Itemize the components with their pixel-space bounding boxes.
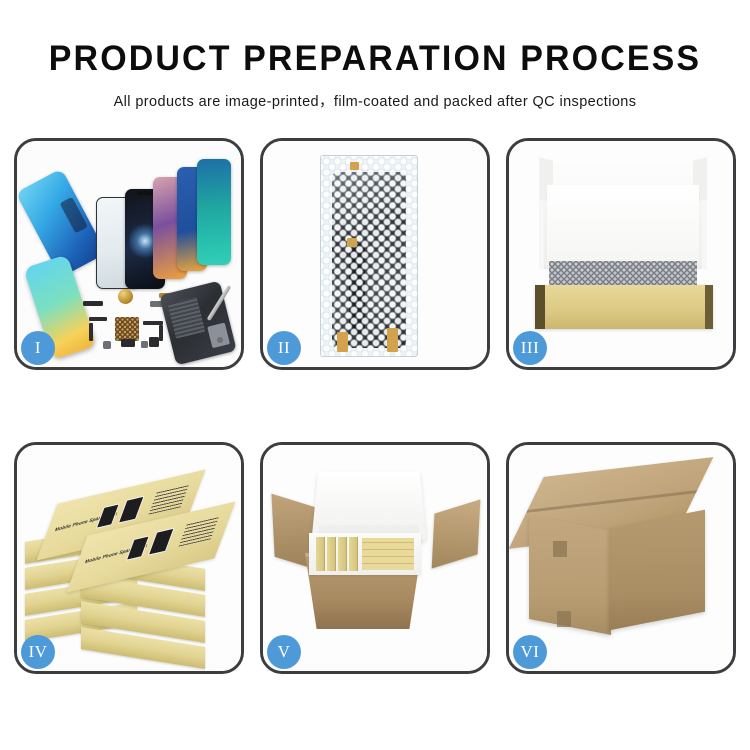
retail-box-3 <box>338 537 347 571</box>
flex-cable-4-icon <box>159 325 163 341</box>
tape-bottom-left-icon <box>337 332 348 352</box>
coil-part-icon <box>118 289 133 304</box>
product-preparation-infographic: PRODUCT PREPARATION PROCESS All products… <box>0 0 750 750</box>
step-4-image: Mobile Phone Spare Parts Mobile Phone Sp… <box>17 445 241 671</box>
process-step-4: Mobile Phone Spare Parts Mobile Phone Sp… <box>14 442 244 674</box>
retail-box-group <box>316 537 414 571</box>
retail-box-1 <box>316 537 325 571</box>
bga-chip-icon <box>115 317 139 341</box>
carton-flap-right-icon <box>432 499 481 568</box>
step-2-image <box>263 141 487 367</box>
screw-part-icon <box>217 337 223 343</box>
kraft-tray-icon <box>535 285 713 329</box>
retail-box-2 <box>327 537 336 571</box>
retail-box-flat-stack <box>362 538 414 570</box>
foam-lid-icon <box>312 472 427 541</box>
step-badge-4: IV <box>21 635 55 669</box>
process-step-grid: I II <box>14 138 736 674</box>
step-badge-3: III <box>513 331 547 365</box>
retail-box-4 <box>349 537 358 571</box>
box-window-2 <box>148 528 175 556</box>
header: PRODUCT PREPARATION PROCESS All products… <box>0 0 750 111</box>
bubble-wrap-scene <box>263 141 487 367</box>
page-subtitle: All products are image-printed，film-coat… <box>0 90 750 111</box>
box-spec-lines-2 <box>179 515 220 546</box>
foam-sheet-icon <box>547 185 699 261</box>
box-window-2 <box>118 496 145 524</box>
tape-top-icon <box>350 162 359 170</box>
tape-bottom-right-icon <box>387 328 398 352</box>
carton-tape-tab-upper <box>553 541 567 557</box>
sealed-carton-scene <box>509 445 733 671</box>
box-stack: Mobile Phone Spare Parts Mobile Phone Sp… <box>23 463 241 663</box>
step-3-image <box>509 141 733 367</box>
process-step-6: VI <box>506 442 736 674</box>
step-6-image <box>509 445 733 671</box>
module-part-icon <box>149 337 159 347</box>
camera-part-icon <box>103 341 111 349</box>
inner-box-scene <box>509 141 733 367</box>
box-spec-lines-1 <box>149 483 190 514</box>
step-badge-6: VI <box>513 635 547 669</box>
speaker-part-icon <box>121 339 135 347</box>
flex-cable-2-icon <box>89 323 93 341</box>
flex-cable-1-icon <box>89 317 107 321</box>
process-step-2: II <box>260 138 490 370</box>
process-step-3: III <box>506 138 736 370</box>
foam-carton-scene <box>263 445 487 671</box>
bubble-texture-icon <box>321 156 417 356</box>
stacked-boxes-scene: Mobile Phone Spare Parts Mobile Phone Sp… <box>17 445 241 671</box>
chip-part-icon <box>83 301 103 306</box>
carton-side-face-icon <box>609 510 705 631</box>
carton-tape-tab-lower <box>557 611 571 627</box>
page-title: PRODUCT PREPARATION PROCESS <box>11 41 739 76</box>
step-badge-5: V <box>267 635 301 669</box>
step-badge-1: I <box>21 331 55 365</box>
step-badge-2: II <box>267 331 301 365</box>
step-1-image <box>17 141 241 367</box>
process-step-5: V <box>260 442 490 674</box>
spare-parts-group <box>17 141 241 367</box>
products-scene <box>17 141 241 367</box>
step-5-image <box>263 445 487 671</box>
tape-mid-icon <box>347 238 357 247</box>
bubble-wrap-bag-icon <box>320 155 418 357</box>
process-step-1: I <box>14 138 244 370</box>
button-part-icon <box>141 341 148 348</box>
